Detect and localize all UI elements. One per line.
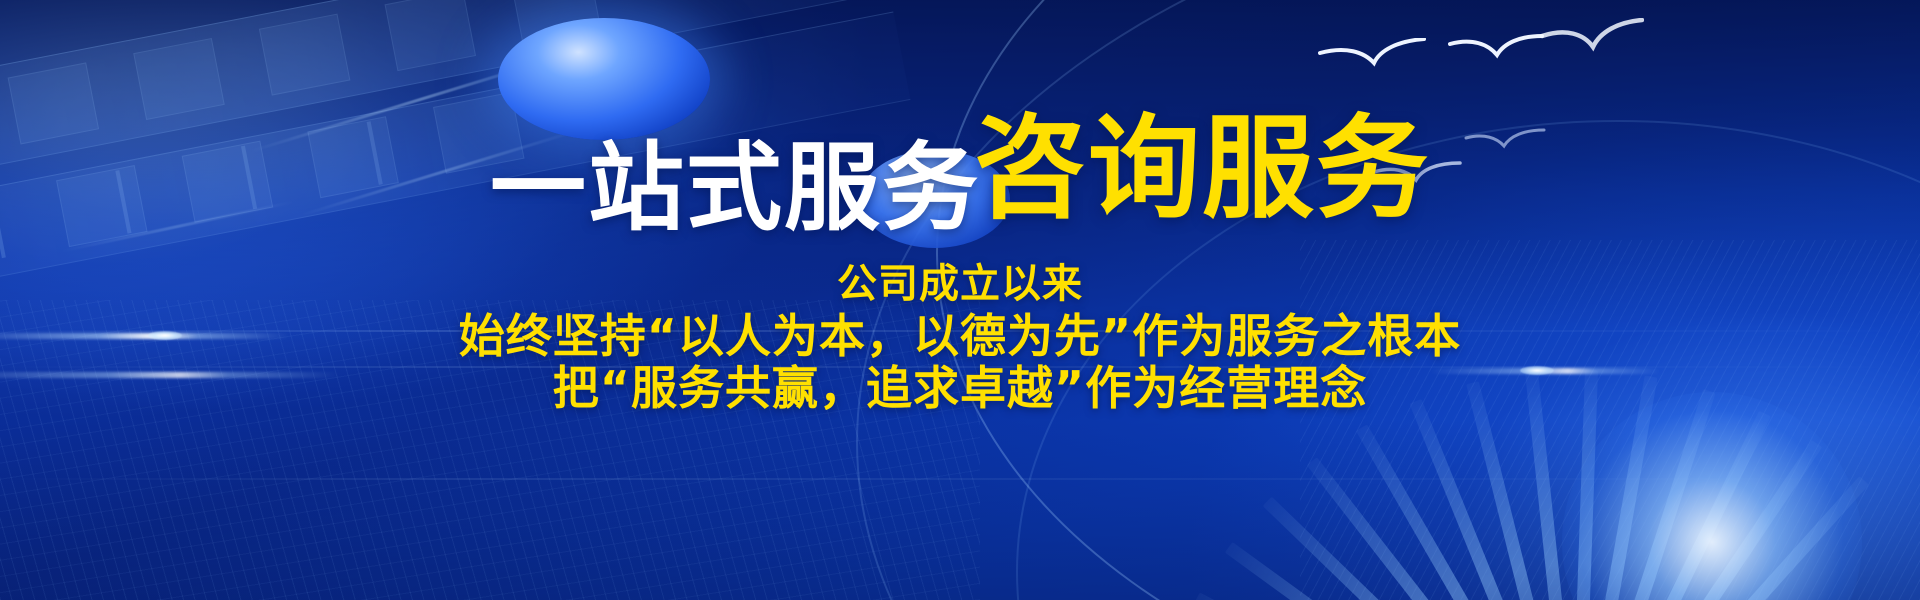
subcopy-line-2: 始终坚持“以人为本，以德为先”作为服务之根本 (0, 310, 1920, 362)
seagull-icon (1540, 18, 1644, 58)
headline-yellow-text: 咨询服务 (974, 104, 1430, 234)
horizon-line (0, 478, 1920, 480)
promo-banner: 一站式服务咨询服务 公司成立以来 始终坚持“以人为本，以德为先”作为服务之根本 … (0, 0, 1920, 600)
subcopy-line-3: 把“服务共赢，追求卓越”作为经营理念 (0, 362, 1920, 414)
headline-white-text: 一站式服务 (490, 132, 980, 244)
subcopy-line-1: 公司成立以来 (0, 258, 1920, 310)
headline: 一站式服务咨询服务 (0, 78, 1920, 249)
seagull-icon (1318, 38, 1428, 72)
subcopy-block: 公司成立以来 始终坚持“以人为本，以德为先”作为服务之根本 把“服务共赢，追求卓… (0, 258, 1920, 414)
seagull-icon (1448, 34, 1544, 66)
